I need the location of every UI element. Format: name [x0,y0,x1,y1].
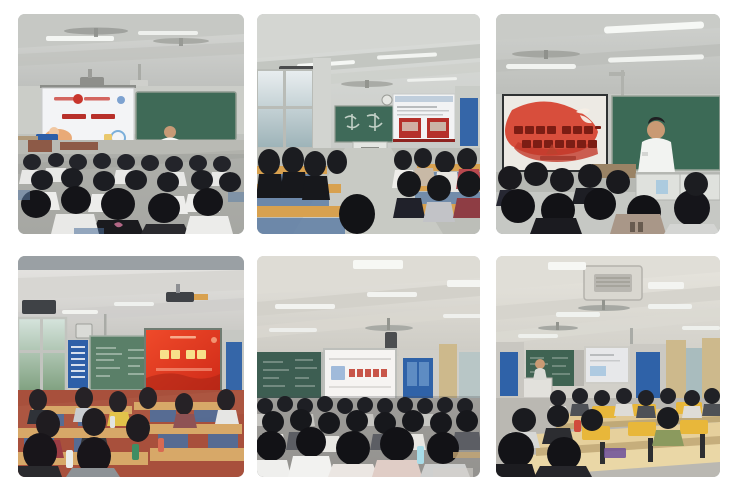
collage-photo-2[interactable] [257,14,480,234]
photo-6-bottle [574,420,581,432]
collage-photo-6[interactable] [496,256,720,477]
photo-5-bottle [417,446,424,464]
photo-6-image [496,256,720,477]
photo-collage [0,0,736,491]
collage-photo-3[interactable] [496,14,720,234]
collage-photo-4[interactable] [18,256,244,477]
collage-photo-1[interactable] [18,14,244,234]
photo-2-image [257,14,480,234]
photo-5-image [257,256,480,477]
photo-1-image [18,14,244,234]
collage-photo-5[interactable] [257,256,480,477]
photo-6-desk-item [604,448,626,458]
photo-3-image [496,14,720,234]
photo-4-image [18,256,244,477]
